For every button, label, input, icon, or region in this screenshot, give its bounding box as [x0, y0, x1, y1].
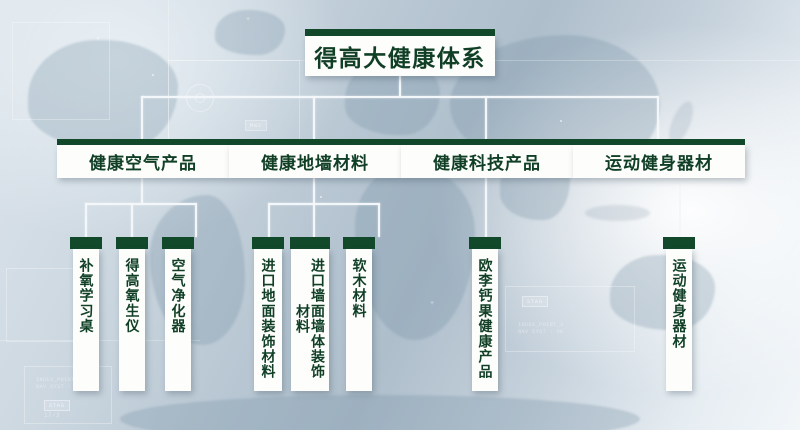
connector-drop-leaf-8: [679, 178, 681, 237]
node-level2-label: 健康空气产品: [89, 149, 197, 174]
node-leaf-label: 运动健身器材: [672, 258, 687, 349]
node-level2-label: 运动健身器材: [605, 149, 713, 174]
node-accent-bar: [290, 237, 330, 249]
hud-frame-center: [505, 286, 635, 352]
node-level2-label: 健康科技产品: [433, 149, 541, 174]
diagram-canvas: + + + + INDEX_POINT NAV SYST : OK STAG I…: [0, 0, 800, 430]
node-leaf-label: 得高氧生仪: [125, 258, 140, 334]
node-leaf-label: 欧李钙果健康产品: [478, 258, 493, 380]
map-continent-antarctica: [120, 395, 640, 430]
connector-root-stem: [399, 76, 401, 97]
hud-dot-b: [320, 196, 322, 198]
connector-stem-group2: [313, 178, 315, 203]
node-root-label: 得高大健康体系: [314, 39, 486, 73]
node-ouli-calcium-fruit[interactable]: 欧李钙果健康产品: [469, 237, 501, 391]
connector-main-trunk: [141, 96, 659, 98]
hud-frame-mid-left: [6, 268, 80, 342]
hud-index-point-center: INDEX_POINT_3: [518, 322, 564, 329]
map-continent-greenland: [215, 10, 285, 55]
connector-drop-leaf-1: [85, 203, 87, 237]
hud-line-vertical-left: [168, 0, 169, 142]
connector-drop-leaf-7: [485, 178, 487, 237]
node-body: 补氧学习桌: [73, 249, 99, 391]
node-leaf-label: 补氧学习桌: [79, 258, 94, 334]
node-body: 得高大健康体系: [305, 36, 495, 76]
map-continent-north-america: [28, 40, 178, 150]
hud-ring-target-inner: [195, 93, 205, 103]
node-body: 健康空气产品: [57, 145, 229, 178]
node-accent-bar: [663, 237, 695, 249]
node-leaf-label: 进口墙面墙体装饰材料: [295, 258, 325, 380]
connector-drop-leaf-2: [131, 203, 133, 237]
node-body: 得高氧生仪: [119, 249, 145, 391]
hud-counter: 17/3: [44, 412, 60, 419]
hud-tag-left: STAG: [44, 400, 70, 411]
connector-drop-level2-2: [313, 96, 315, 139]
node-body: 健康地墙材料: [229, 145, 401, 178]
node-health-tech-products[interactable]: 健康科技产品: [401, 139, 573, 178]
node-body: 空气净化器: [165, 249, 191, 391]
node-leaf-label: 空气净化器: [171, 258, 186, 334]
node-accent-bar: [305, 29, 495, 36]
node-accent-bar: [469, 237, 501, 249]
node-body: 健康科技产品: [401, 145, 573, 178]
node-accent-bar: [343, 237, 375, 249]
node-body: 软木材料: [346, 249, 372, 391]
connector-bar-group2: [268, 203, 380, 205]
node-imported-floor-material[interactable]: 进口地面装饰材料: [252, 237, 284, 391]
connector-drop-leaf-5: [313, 203, 315, 237]
hud-crosshair-a: +: [96, 36, 100, 43]
node-leaf-label: 进口地面装饰材料: [261, 258, 276, 380]
hud-frame-top-left: [12, 22, 110, 120]
connector-stem-group1: [141, 178, 143, 203]
hud-dot-a: [152, 74, 154, 76]
hud-crosshair-c: +: [430, 300, 434, 307]
hud-dot-c: [560, 120, 562, 122]
node-imported-wall-material[interactable]: 进口墙面墙体装饰材料: [288, 237, 332, 391]
node-degao-oxygen-generator[interactable]: 得高氧生仪: [116, 237, 148, 391]
connector-drop-level2-3: [485, 96, 487, 139]
node-oxygen-study-desk[interactable]: 补氧学习桌: [70, 237, 102, 391]
hud-crosshair-b: +: [246, 16, 250, 23]
node-sports-fitness-equipment[interactable]: 运动健身器材: [573, 139, 745, 178]
node-accent-bar: [70, 237, 102, 249]
node-accent-bar: [116, 237, 148, 249]
connector-drop-leaf-4: [268, 203, 270, 237]
node-accent-bar: [252, 237, 284, 249]
node-health-floor-wall[interactable]: 健康地墙材料: [229, 139, 401, 178]
hud-ring-target: [186, 84, 214, 112]
node-body: 进口墙面墙体装饰材料: [291, 249, 329, 391]
connector-drop-level2-1: [141, 96, 143, 139]
node-health-air-products[interactable]: 健康空气产品: [57, 139, 229, 178]
node-air-purifier[interactable]: 空气净化器: [162, 237, 194, 391]
connector-drop-leaf-3: [195, 203, 197, 237]
hud-index-point-left: INDEX_POINT: [36, 377, 75, 384]
hud-tag-center: STAG: [522, 296, 548, 307]
node-fitness-equipment[interactable]: 运动健身器材: [663, 237, 695, 391]
hud-frame-top-right: [168, 60, 300, 144]
hud-crosshair-d: +: [700, 210, 704, 217]
node-body: 运动健身器材: [573, 145, 745, 178]
map-island-indonesia: [585, 205, 650, 221]
connector-bar-group1: [85, 203, 197, 205]
node-level2-label: 健康地墙材料: [261, 149, 369, 174]
node-root[interactable]: 得高大健康体系: [305, 29, 495, 76]
hud-nav-status-center: NAV SYST : OK: [518, 329, 564, 336]
node-body: 运动健身器材: [666, 249, 692, 391]
connector-drop-level2-4: [657, 96, 659, 139]
connector-bar-group4: [657, 178, 681, 180]
node-accent-bar: [162, 237, 194, 249]
node-leaf-label: 软木材料: [352, 258, 367, 319]
node-body: 进口地面装饰材料: [254, 249, 282, 391]
connector-drop-leaf-6: [378, 203, 380, 237]
node-cork-material[interactable]: 软木材料: [343, 237, 375, 391]
node-body: 欧李钙果健康产品: [472, 249, 498, 391]
hud-tag-top: MW2: [245, 120, 267, 131]
